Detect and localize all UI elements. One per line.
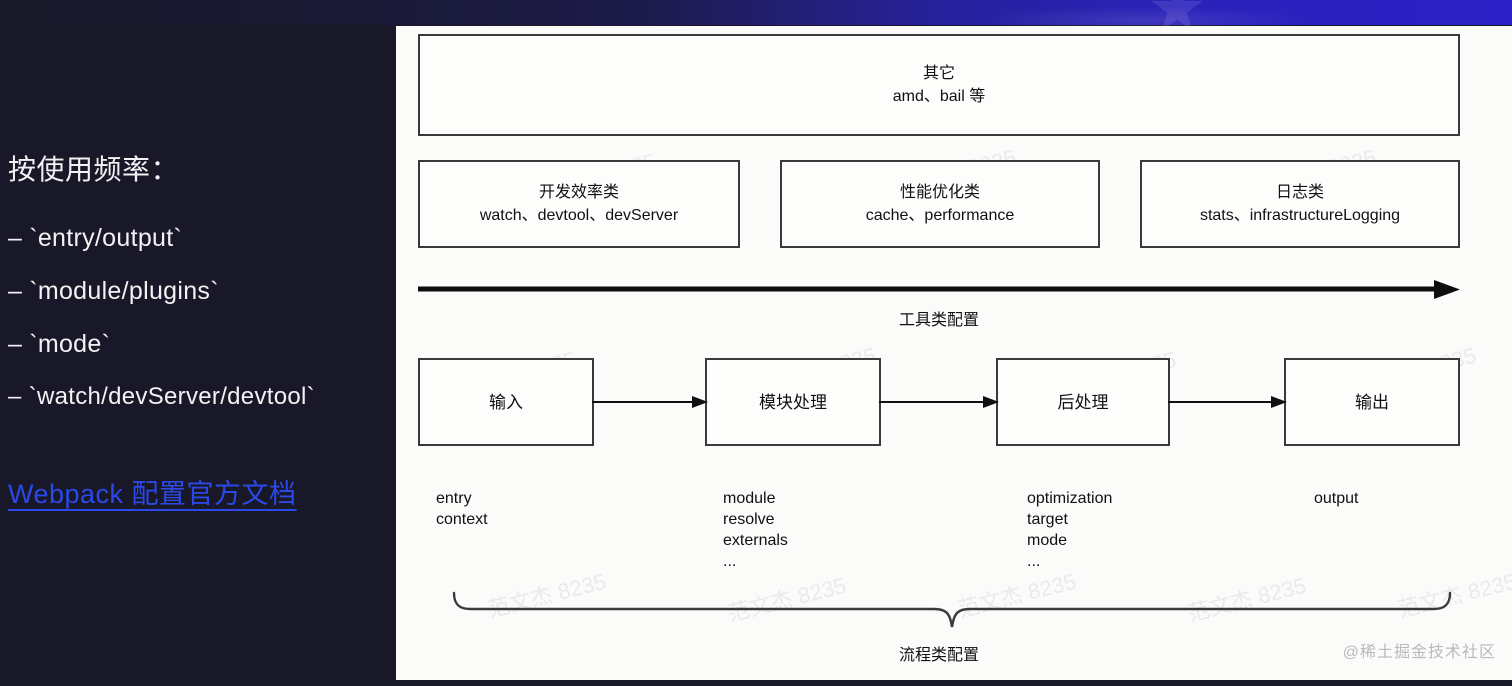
- slide-root: 按使用频率： –`entry/output` –`module/plugins`…: [0, 0, 1512, 686]
- flow-arrow-icon-0: [592, 394, 708, 410]
- flow-options-post: optimization target mode ...: [1027, 488, 1112, 572]
- top-decorative-band: [0, 0, 1512, 25]
- flow-box-input: 输入: [418, 358, 594, 446]
- category-title-2: 日志类: [1276, 181, 1324, 204]
- flow-box-post-processing: 后处理: [996, 358, 1170, 446]
- diagram-panel: 范文杰 8235 范文杰 8235 范文杰 8235 范文杰 8235 范文杰 …: [396, 26, 1512, 680]
- flow-title-0: 输入: [489, 391, 523, 414]
- flow-title-1: 模块处理: [759, 391, 827, 414]
- category-subtitle-1: cache、performance: [866, 204, 1015, 227]
- option-item: externals: [723, 530, 788, 551]
- page-title: 按使用频率：: [8, 148, 179, 188]
- bullet-label-3: `watch/devServer/devtool`: [29, 383, 315, 410]
- category-box-performance: 性能优化类 cache、performance: [780, 160, 1100, 248]
- other-config-title: 其它: [923, 62, 955, 85]
- option-item: optimization: [1027, 488, 1112, 509]
- bullet-label-0: `entry/output`: [29, 224, 182, 252]
- bullet-item-3: –`watch/devServer/devtool`: [8, 383, 315, 411]
- category-subtitle-0: watch、devtool、devServer: [480, 204, 678, 227]
- bullet-item-0: –`entry/output`: [8, 224, 182, 253]
- category-subtitle-2: stats、infrastructureLogging: [1200, 204, 1400, 227]
- flow-box-output: 输出: [1284, 358, 1460, 446]
- flow-options-module: module resolve externals ...: [723, 488, 788, 572]
- flow-arrow-icon-1: [879, 394, 999, 410]
- bullet-dash-3: –: [8, 383, 22, 410]
- option-item: context: [436, 509, 488, 530]
- bullet-item-2: –`mode`: [8, 330, 110, 359]
- flow-title-2: 后处理: [1058, 391, 1109, 414]
- option-item: module: [723, 488, 788, 509]
- tools-arrow-icon: [418, 280, 1460, 300]
- other-config-box: 其它 amd、bail 等: [418, 34, 1460, 136]
- option-item: mode: [1027, 530, 1112, 551]
- process-brace-icon: [452, 591, 1452, 631]
- process-brace-label: 流程类配置: [418, 641, 1460, 665]
- brand-watermark: @稀土掘金技术社区: [1343, 638, 1496, 662]
- flow-title-3: 输出: [1355, 391, 1389, 414]
- bullet-dash-0: –: [8, 224, 22, 252]
- option-item: ...: [1027, 551, 1112, 572]
- bullet-item-1: –`module/plugins`: [8, 277, 219, 306]
- tools-arrow-label: 工具类配置: [418, 306, 1460, 330]
- flow-arrow-icon-2: [1168, 394, 1287, 410]
- option-item: output: [1314, 488, 1358, 509]
- option-item: entry: [436, 488, 488, 509]
- bullet-dash-2: –: [8, 330, 22, 358]
- other-config-subtitle: amd、bail 等: [893, 85, 985, 108]
- flow-box-module-processing: 模块处理: [705, 358, 881, 446]
- bullet-label-2: `mode`: [29, 330, 110, 358]
- flow-options-input: entry context: [436, 488, 488, 530]
- category-box-logging: 日志类 stats、infrastructureLogging: [1140, 160, 1460, 248]
- option-item: ...: [723, 551, 788, 572]
- webpack-docs-link[interactable]: Webpack 配置官方文档: [8, 472, 297, 511]
- option-item: target: [1027, 509, 1112, 530]
- category-title-1: 性能优化类: [900, 181, 980, 204]
- category-box-dev-efficiency: 开发效率类 watch、devtool、devServer: [418, 160, 740, 248]
- bullet-label-1: `module/plugins`: [29, 277, 219, 305]
- left-text-column: 按使用频率： –`entry/output` –`module/plugins`…: [0, 25, 396, 686]
- flow-options-output: output: [1314, 488, 1358, 509]
- category-title-0: 开发效率类: [539, 181, 619, 204]
- option-item: resolve: [723, 509, 788, 530]
- bullet-dash-1: –: [8, 277, 22, 305]
